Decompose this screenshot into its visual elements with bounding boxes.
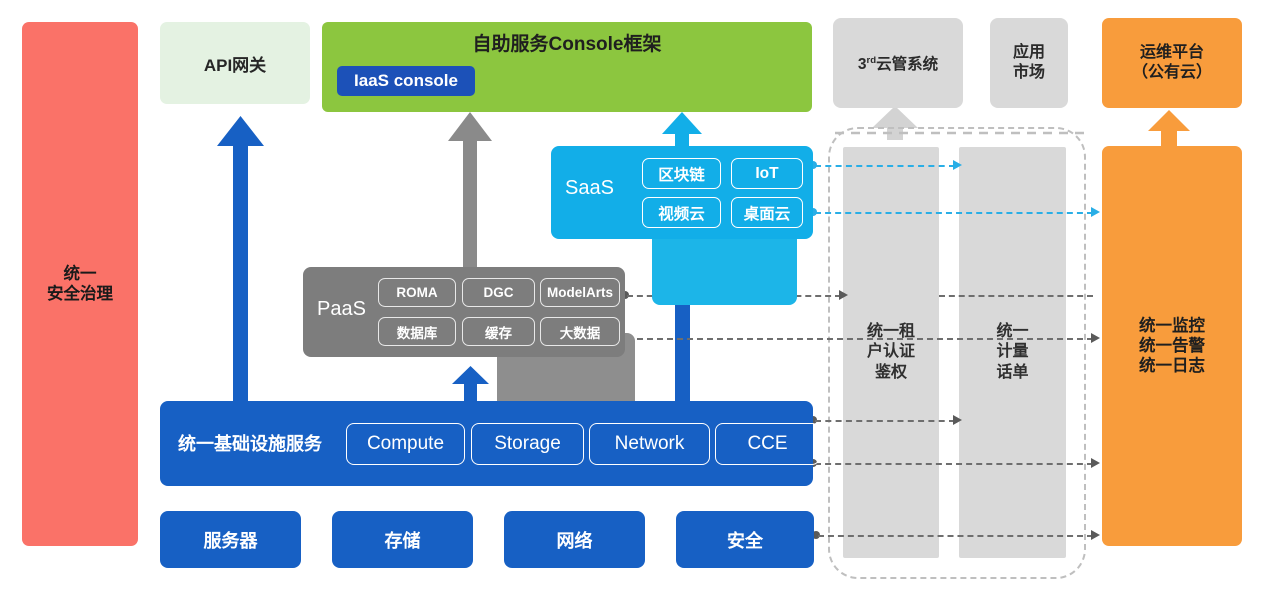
auth-to-ops-line [939,295,1093,297]
infra-to-metering-line [815,420,955,422]
arrowhead-icon [1091,458,1100,468]
saas-chip-desktop-cloud[interactable]: 桌面云 [731,197,803,228]
third-cloud-label: 3rd云管系统 [858,52,938,74]
hardware-box-network[interactable]: 网络 [504,511,645,568]
paas-chip-roma[interactable]: ROMA [378,278,456,307]
unified-monitoring-box[interactable]: 统一监控 统一告警 统一日志 [1102,146,1242,546]
infra-chip-cce[interactable]: CCE [715,423,820,465]
arrow-infra-to-paas [452,366,489,401]
paas-chip-dgc[interactable]: DGC [462,278,535,307]
arrow-infra-to-apigw [217,116,264,401]
console-framework-box[interactable]: 自助服务Console框架 IaaS console PaaS console … [322,22,812,112]
arrowhead-icon [953,415,962,425]
api-gateway-box[interactable]: API网关 [160,22,310,104]
saas-chip-video-cloud[interactable]: 视频云 [642,197,721,228]
paas-layer-box[interactable]: PaaS ROMA DGC ModelArts 数据库 缓存 大数据 [303,267,625,357]
saas-chip-iot[interactable]: IoT [731,158,803,189]
shared-column-metering: 统一 计量 话单 [959,147,1066,558]
architecture-diagram: 统一租 户认证 鉴权 统一 计量 话单 统一 安全治理 API网关 自助服务Co… [0,0,1265,605]
arrowhead-icon [1091,530,1100,540]
unified-infrastructure-box[interactable]: 统一基础设施服务 Compute Storage Network CCE [160,401,813,486]
paas-to-ops-line [627,338,1093,340]
arrowhead-icon [1091,207,1100,217]
infra-chip-storage[interactable]: Storage [471,423,584,465]
paas-layer-label: PaaS [317,298,366,321]
saas-to-ops-line [815,212,1093,214]
saas-chip-blockchain[interactable]: 区块链 [642,158,721,189]
paas-chip-bigdata[interactable]: 大数据 [540,317,620,346]
hardware-box-storage[interactable]: 存储 [332,511,473,568]
console-chip-row: IaaS console PaaS console SaaS console [322,66,812,96]
arrow-paas-to-console [448,112,492,267]
unified-infrastructure-label: 统一基础设施服务 [178,430,322,456]
saas-layer-box[interactable]: SaaS 区块链 IoT 视频云 桌面云 [551,146,813,239]
paas-chip-database[interactable]: 数据库 [378,317,456,346]
paas-chip-cache[interactable]: 缓存 [462,317,535,346]
arrow-ops-main-to-top [1148,110,1190,146]
hardware-box-server[interactable]: 服务器 [160,511,301,568]
shared-column-tenant-auth: 统一租 户认证 鉴权 [843,147,939,558]
arrowhead-icon [1091,333,1100,343]
infra-to-ops-line [815,463,1093,465]
console-framework-title: 自助服务Console框架 [322,29,812,56]
unified-security-box[interactable]: 统一 安全治理 [22,22,138,546]
ops-platform-public-cloud-box[interactable]: 运维平台 （公有云） [1102,18,1242,108]
infra-chip-network[interactable]: Network [589,423,710,465]
iaas-console-chip[interactable]: IaaS console [337,66,475,96]
saas-to-metering-line [815,165,955,167]
infra-chip-compute[interactable]: Compute [346,423,465,465]
arrow-saas-to-console [662,112,702,148]
app-market-box[interactable]: 应用 市场 [990,18,1068,108]
security-box-to-ops-line [818,535,1093,537]
arrowhead-icon [953,160,962,170]
paas-chip-modelarts[interactable]: ModelArts [540,278,620,307]
arrowhead-icon [839,290,848,300]
saas-layer-label: SaaS [565,177,614,200]
hardware-box-security[interactable]: 安全 [676,511,814,568]
third-party-cloud-mgmt-box[interactable]: 3rd云管系统 [833,18,963,108]
